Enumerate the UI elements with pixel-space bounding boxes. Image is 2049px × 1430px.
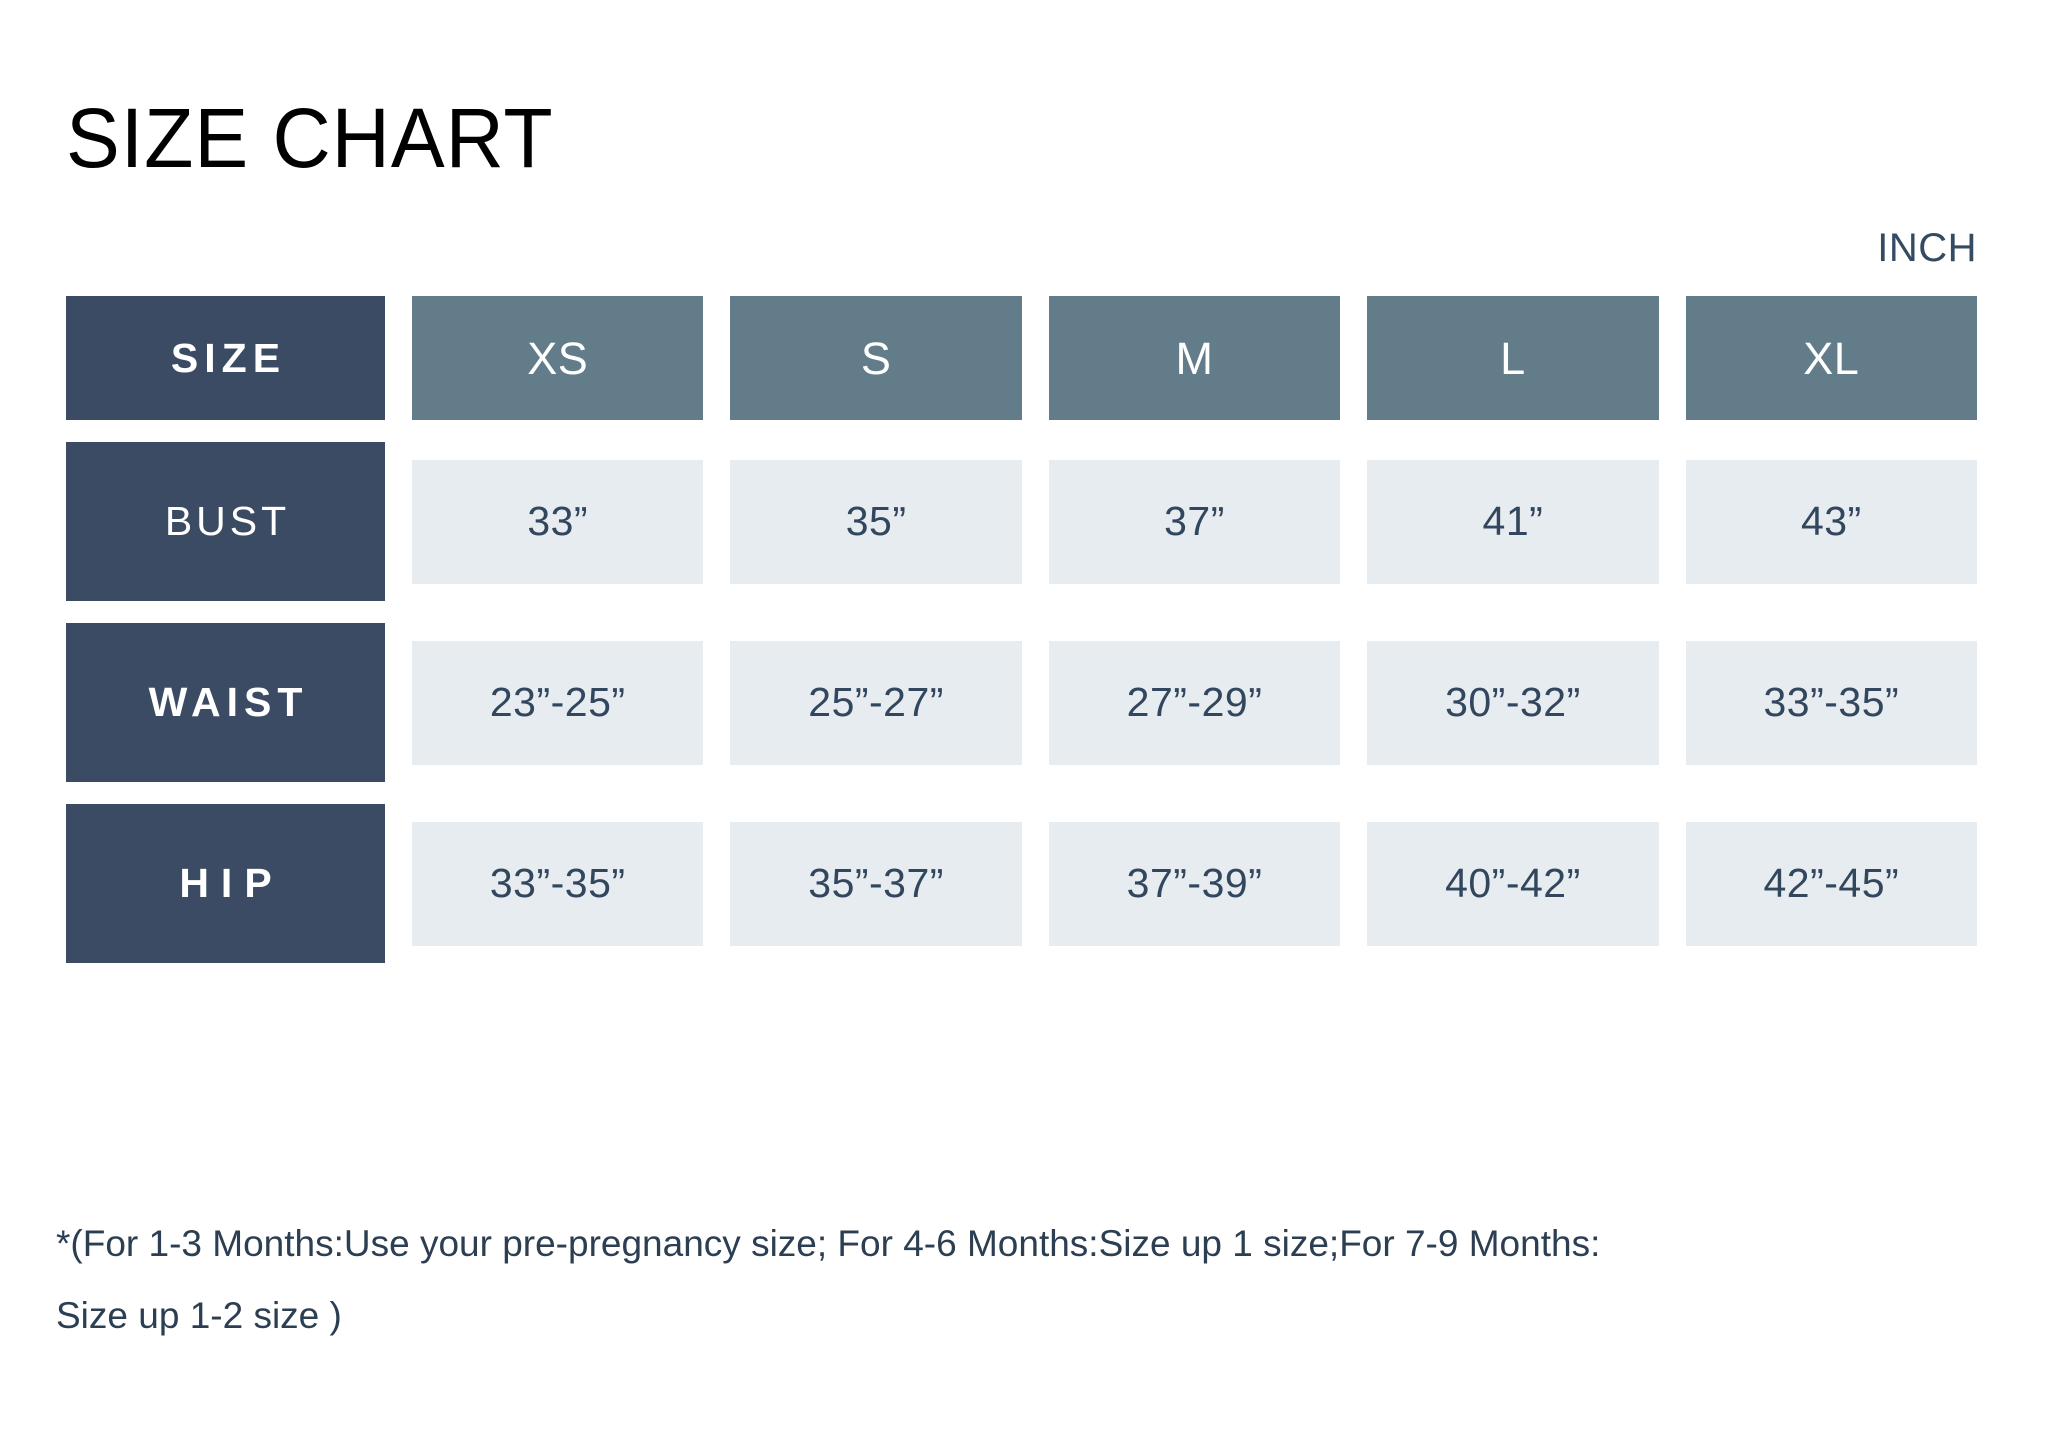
header-cell-l: L [1367,296,1658,420]
cell-waist-xl-text: 33”-35” [1763,682,1899,723]
cell-hip-xs: 33”-35” [412,822,703,946]
header-cell-m: M [1049,296,1340,420]
cell-bust-xs: 33” [412,460,703,584]
cell-waist-s-text: 25”-27” [808,682,944,723]
cell-waist-l-text: 30”-32” [1445,682,1581,723]
footnote-line-1: *(For 1-3 Months:Use your pre-pregnancy … [56,1208,2016,1280]
size-chart-table: SIZE XS S M L XL [66,296,1977,963]
cell-bust-s: 35” [730,460,1021,584]
row-bust-cells: 33” 35” 37” 41” 43” [412,442,1977,601]
cell-bust-m: 37” [1049,460,1340,584]
cell-bust-xl: 43” [1686,460,1977,584]
header-label-size: SIZE [66,296,385,420]
cell-waist-xs: 23”-25” [412,641,703,765]
row-label-hip: HIP [66,804,385,963]
row-hip-cells: 33”-35” 35”-37” 37”-39” 40”-42” 42”-45” [412,804,1977,963]
header-cell-xs-text: XS [527,336,588,381]
header-cell-xl-text: XL [1803,336,1859,381]
cell-bust-xs-text: 33” [527,501,588,542]
table-header-row: SIZE XS S M L XL [66,296,1977,420]
header-cell-s: S [730,296,1021,420]
cell-hip-xl: 42”-45” [1686,822,1977,946]
cell-waist-l: 30”-32” [1367,641,1658,765]
table-row: WAIST 23”-25” 25”-27” 27”-29” 30”-32” 33… [66,623,1977,782]
cell-waist-s: 25”-27” [730,641,1021,765]
table-row: BUST 33” 35” 37” 41” 43” [66,442,1977,601]
row-waist-cells: 23”-25” 25”-27” 27”-29” 30”-32” 33”-35” [412,623,1977,782]
header-label-text: SIZE [165,338,286,379]
row-label-waist-text: WAIST [143,682,309,723]
footnote-line-2: Size up 1-2 size ) [56,1280,2016,1352]
cell-waist-xs-text: 23”-25” [490,682,626,723]
size-chart-page: SIZE CHART INCH SIZE XS S M L [0,0,2049,1430]
cell-hip-xl-text: 42”-45” [1763,863,1899,904]
header-cell-xl: XL [1686,296,1977,420]
cell-hip-s: 35”-37” [730,822,1021,946]
cell-bust-xl-text: 43” [1801,501,1862,542]
header-cell-xs: XS [412,296,703,420]
page-title: SIZE CHART [66,96,554,180]
header-cell-s-text: S [861,336,892,381]
cell-waist-m-text: 27”-29” [1127,682,1263,723]
cell-hip-l: 40”-42” [1367,822,1658,946]
cell-waist-xl: 33”-35” [1686,641,1977,765]
cell-waist-m: 27”-29” [1049,641,1340,765]
cell-hip-m-text: 37”-39” [1127,863,1263,904]
cell-hip-l-text: 40”-42” [1445,863,1581,904]
cell-hip-m: 37”-39” [1049,822,1340,946]
header-cell-m-text: M [1176,336,1214,381]
cell-bust-m-text: 37” [1164,501,1225,542]
footnote: *(For 1-3 Months:Use your pre-pregnancy … [56,1208,2016,1352]
row-label-bust-text: BUST [161,501,290,542]
header-size-cells: XS S M L XL [412,296,1977,420]
cell-bust-s-text: 35” [846,501,907,542]
unit-label: INCH [1877,228,1977,268]
cell-bust-l: 41” [1367,460,1658,584]
table-row: HIP 33”-35” 35”-37” 37”-39” 40”-42” 42”-… [66,804,1977,963]
header-cell-l-text: L [1500,336,1526,381]
row-label-waist: WAIST [66,623,385,782]
row-label-hip-text: HIP [167,863,283,904]
cell-bust-l-text: 41” [1483,501,1544,542]
row-label-bust: BUST [66,442,385,601]
cell-hip-s-text: 35”-37” [808,863,944,904]
cell-hip-xs-text: 33”-35” [490,863,626,904]
